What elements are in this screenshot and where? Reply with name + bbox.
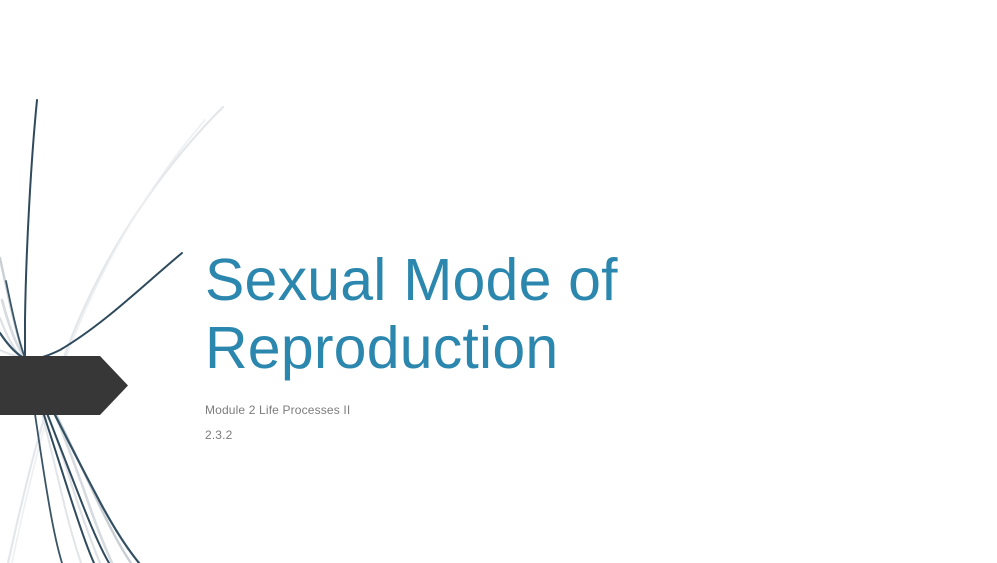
page-title: Sexual Mode of Reproduction bbox=[205, 246, 845, 382]
subtitle-section-number: 2.3.2 bbox=[205, 428, 765, 442]
strand-light-outer-arc bbox=[8, 107, 223, 563]
subtitle-module-line: Module 2 Life Processes II bbox=[205, 403, 765, 417]
strand-gray-sweep-d bbox=[0, 350, 81, 563]
subtitle-block: Module 2 Life Processes II 2.3.2 bbox=[205, 403, 765, 442]
strand-group-light bbox=[0, 107, 223, 563]
title-block: Sexual Mode of Reproduction bbox=[205, 246, 845, 382]
strand-navy-long bbox=[25, 100, 94, 563]
strand-gray-sweep-c bbox=[0, 258, 131, 563]
presentation-slide: Sexual Mode of Reproduction Module 2 Lif… bbox=[0, 0, 997, 563]
strand-gray-sweep-a bbox=[2, 300, 112, 563]
strand-gray-sweep-b bbox=[0, 318, 100, 563]
strand-navy-wide bbox=[0, 333, 139, 563]
strand-navy-short bbox=[6, 281, 62, 563]
chevron-banner-shape bbox=[0, 356, 128, 415]
strand-navy-arc bbox=[25, 253, 182, 563]
strand-light-inner-arc bbox=[12, 120, 205, 563]
strand-group-navy bbox=[0, 100, 182, 563]
